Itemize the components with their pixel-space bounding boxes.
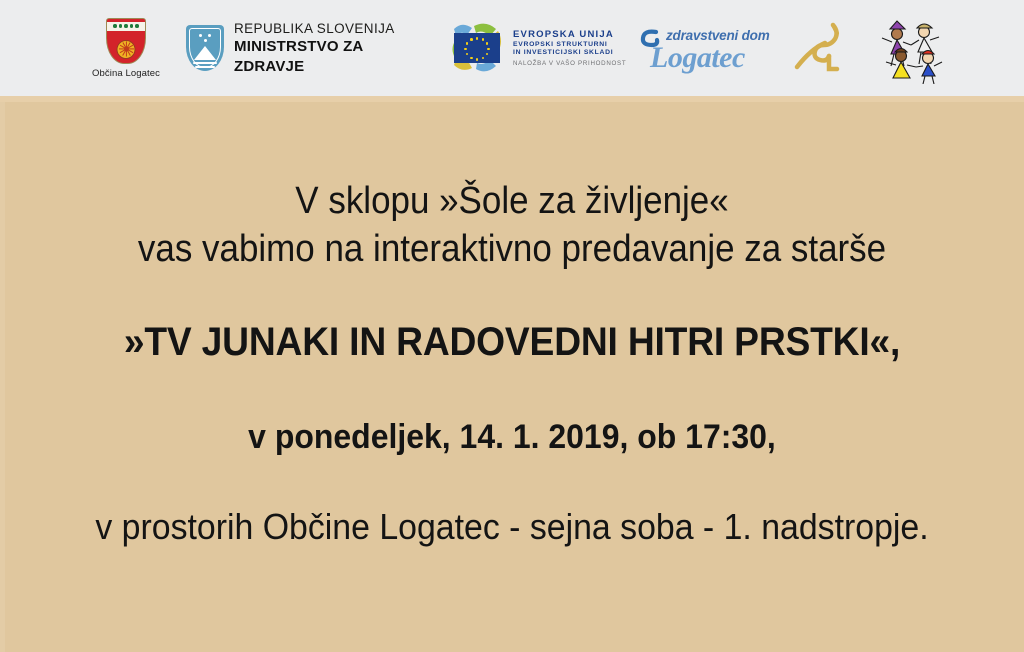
- eu-line-2: EVROPSKI STRUKTURNI: [513, 41, 626, 49]
- event-datetime: v ponedeljek, 14. 1. 2019, ob 17:30,: [31, 418, 994, 457]
- ministry-line-1: REPUBLIKA SLOVENIJA: [234, 20, 436, 37]
- event-location: v prostorih Občine Logatec - sejna soba …: [31, 506, 994, 548]
- intro-line-1: V sklopu »Šole za življenje«: [41, 180, 983, 223]
- logo-ministrstvo-za-zdravje: REPUBLIKA SLOVENIJA MINISTRSTVO ZA ZDRAV…: [186, 0, 436, 96]
- eu-line-3: IN INVESTICIJSKI SKLADI: [513, 49, 626, 57]
- gold-abstract-figure-icon: [793, 19, 851, 77]
- poster-body: V sklopu »Šole za življenje« vas vabimo …: [0, 102, 1024, 652]
- poster-canvas: Občina Logatec REPUBLIKA SLOVENIJA MINIS…: [0, 0, 1024, 652]
- logo-gold-figure: [790, 0, 854, 96]
- intro-line-2: vas vabimo na interaktivno predavanje za…: [41, 228, 983, 271]
- logo-obcina-label: Občina Logatec: [92, 68, 160, 79]
- logo-evropska-unija: EVROPSKA UNIJA EVROPSKI STRUKTURNI IN IN…: [448, 0, 638, 96]
- logo-zdravstveni-dom-logatec: zdravstveni dom Logatec: [636, 0, 786, 96]
- logo-obcina-logatec: Občina Logatec: [84, 0, 168, 96]
- eu-line-4: NALOŽBA V VAŠO PRIHODNOST: [513, 60, 626, 68]
- four-children-illustration-icon: [876, 12, 952, 84]
- left-edge-strip: [0, 102, 5, 652]
- eu-line-1: EVROPSKA UNIJA: [513, 29, 626, 41]
- coat-of-arms-slovenia-icon: [186, 25, 224, 71]
- zd-line-2: Logatec: [650, 41, 745, 75]
- logo-children-holding-hands: [872, 0, 956, 96]
- event-title: »TV JUNAKI IN RADOVEDNI HITRI PRSTKI«,: [36, 320, 988, 365]
- eu-flag-icon: [448, 19, 506, 77]
- ministry-line-2: MINISTRSTVO ZA ZDRAVJE: [234, 37, 436, 75]
- coat-of-arms-logatec-icon: [106, 18, 146, 64]
